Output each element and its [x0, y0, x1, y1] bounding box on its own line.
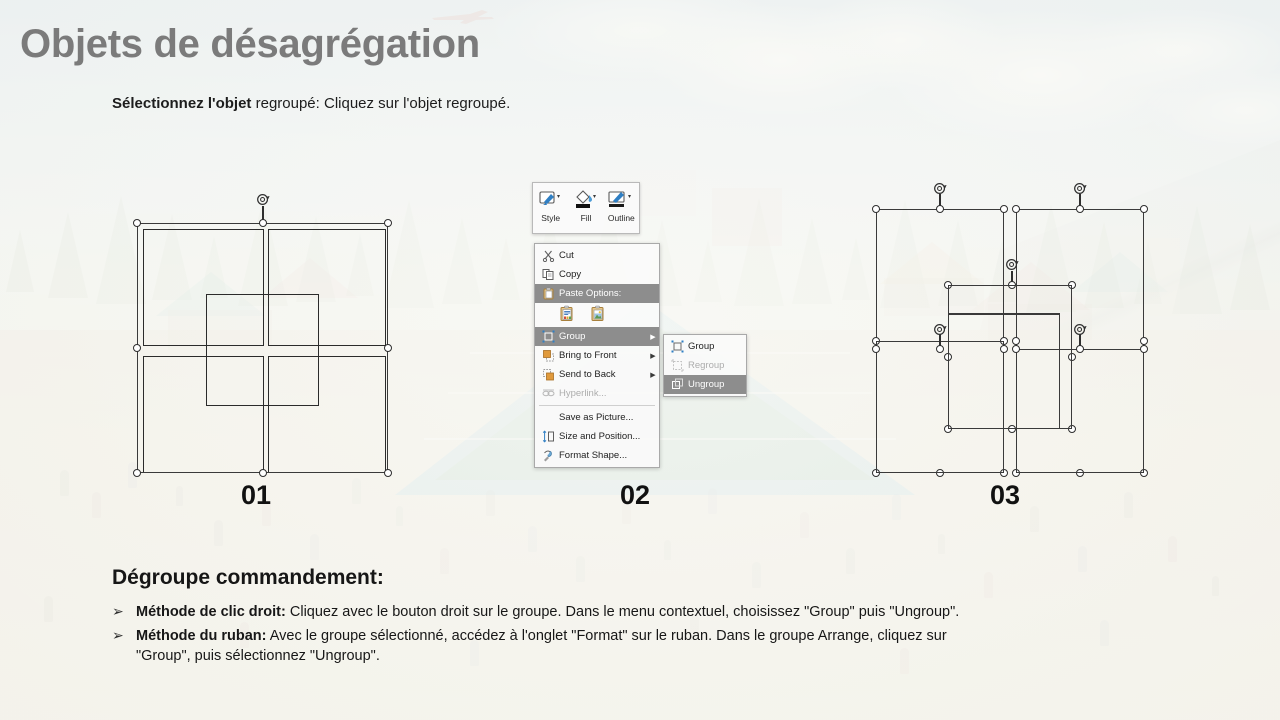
- context-menu[interactable]: Cut Copy Paste Option: [534, 243, 660, 468]
- step-number-02: 02: [620, 480, 650, 511]
- selection-box-03-e: [1016, 349, 1144, 473]
- size-position-icon: [537, 430, 559, 443]
- toolbar-label-fill: Fill: [581, 213, 592, 223]
- presentation-slide: Objets de désagrégation Sélectionnez l'o…: [0, 0, 1280, 720]
- mini-floating-toolbar[interactable]: Style Fill Outli: [532, 182, 640, 234]
- send-to-back-icon: [537, 368, 559, 381]
- menu-label-size-and-position: Size and Position...: [559, 431, 647, 442]
- menu-item-hyperlink: Hyperlink...: [535, 384, 659, 403]
- menu-label-send-to-back: Send to Back: [559, 369, 647, 380]
- bullet-text-2: Méthode du ruban: Avec le groupe sélecti…: [136, 626, 992, 667]
- selection-bounding-box-01: [137, 223, 388, 473]
- menu-label-copy: Copy: [559, 269, 647, 280]
- submenu-item-regroup: Regroup: [664, 356, 746, 375]
- rotation-handle-icon-03-d[interactable]: [933, 322, 948, 337]
- resize-handle-ne-01[interactable]: [384, 219, 392, 227]
- menu-item-copy[interactable]: Copy: [535, 265, 659, 284]
- rotation-handle-icon-03-c[interactable]: [1005, 257, 1020, 272]
- resize-handle-03-0[interactable]: [872, 205, 880, 213]
- format-shape-icon: [537, 449, 559, 462]
- outline-pen-icon: [607, 187, 635, 212]
- menu-item-send-to-back[interactable]: Send to Back ▶: [535, 365, 659, 384]
- menu-item-paste-options[interactable]: Paste Options:: [535, 284, 659, 303]
- list-item: ➢ Méthode du ruban: Avec le groupe sélec…: [112, 626, 992, 667]
- bullet-arrow-icon: ➢: [112, 626, 136, 646]
- scissors-icon: [537, 249, 559, 262]
- clipboard-icon: [537, 287, 559, 300]
- resize-handle-03-10[interactable]: [1140, 205, 1148, 213]
- resize-handle-e-01[interactable]: [384, 344, 392, 352]
- resize-handle-sw-01[interactable]: [133, 469, 141, 477]
- bullet-arrow-icon: ➢: [112, 602, 136, 622]
- resize-handle-n-01[interactable]: [259, 219, 267, 227]
- paste-options-icon-row[interactable]: [535, 303, 659, 327]
- subtitle-line: Sélectionnez l'objet regroupé: Cliquez s…: [112, 95, 510, 112]
- toolbar-label-style: Style: [541, 213, 560, 223]
- page-title: Objets de désagrégation: [20, 22, 480, 67]
- rotation-handle-icon-03-b[interactable]: [1073, 181, 1088, 196]
- group-submenu[interactable]: Group Regroup Ungroup: [663, 334, 747, 397]
- menu-label-save-as-picture: Save as Picture...: [559, 412, 647, 423]
- step-number-03: 03: [990, 480, 1020, 511]
- resize-handle-03-12[interactable]: [1140, 337, 1148, 345]
- menu-item-size-and-position[interactable]: Size and Position...: [535, 427, 659, 446]
- submenu-item-ungroup[interactable]: Ungroup: [664, 375, 746, 394]
- toolbar-label-outline: Outline: [608, 213, 635, 223]
- menu-label-paste-options: Paste Options:: [559, 288, 647, 299]
- resize-handle-03-9[interactable]: [1076, 205, 1084, 213]
- resize-handle-w-01[interactable]: [133, 344, 141, 352]
- shape-style-icon: [538, 187, 564, 212]
- resize-handle-03-27[interactable]: [1012, 345, 1020, 353]
- menu-label-format-shape: Format Shape...: [559, 450, 647, 461]
- fill-bucket-icon: [573, 187, 599, 212]
- menu-label-bring-to-front: Bring to Front: [559, 350, 647, 361]
- subtitle-rest-part: regroupé: Cliquez sur l'objet regroupé.: [251, 95, 510, 112]
- group-icon: [666, 340, 688, 353]
- subtitle-bold-part: Sélectionnez l'objet: [112, 95, 251, 112]
- bullet-list: ➢ Méthode de clic droit: Cliquez avec le…: [112, 602, 992, 670]
- menu-label-group: Group: [559, 331, 647, 342]
- menu-item-cut[interactable]: Cut: [535, 246, 659, 265]
- menu-item-format-shape[interactable]: Format Shape...: [535, 446, 659, 465]
- resize-handle-03-29[interactable]: [1140, 345, 1148, 353]
- menu-item-group[interactable]: Group ▶: [535, 327, 659, 346]
- section-heading: Dégroupe commandement:: [112, 566, 384, 590]
- bullet-body-1: Cliquez avec le bouton droit sur le grou…: [286, 604, 959, 620]
- submenu-label-group: Group: [688, 341, 746, 352]
- resize-handle-03-24[interactable]: [872, 345, 880, 353]
- submenu-label-regroup: Regroup: [688, 360, 746, 371]
- group-icon: [537, 330, 559, 343]
- rotation-handle-icon-03-a[interactable]: [933, 181, 948, 196]
- paste-picture-icon[interactable]: [590, 305, 607, 326]
- resize-handle-03-28[interactable]: [1076, 345, 1084, 353]
- paste-keep-source-formatting-icon[interactable]: [559, 305, 576, 326]
- resize-handle-03-2[interactable]: [1000, 205, 1008, 213]
- submenu-arrow-group: ▶: [647, 333, 659, 341]
- menu-label-hyperlink: Hyperlink...: [559, 388, 647, 399]
- selection-box-03-d: [876, 341, 1004, 473]
- rotation-handle-icon-03-e[interactable]: [1073, 322, 1088, 337]
- resize-handle-03-1[interactable]: [936, 205, 944, 213]
- toolbar-button-style[interactable]: Style: [533, 183, 568, 233]
- resize-handle-nw-01[interactable]: [133, 219, 141, 227]
- hyperlink-icon: [537, 387, 559, 400]
- submenu-label-ungroup: Ungroup: [688, 379, 746, 390]
- submenu-arrow-bring-to-front: ▶: [647, 352, 659, 360]
- bullet-text-1: Méthode de clic droit: Cliquez avec le b…: [136, 602, 992, 623]
- bullet-bold-2: Méthode du ruban:: [136, 628, 267, 644]
- resize-handle-se-01[interactable]: [384, 469, 392, 477]
- submenu-arrow-send-to-back: ▶: [647, 371, 659, 379]
- copy-icon: [537, 268, 559, 281]
- regroup-icon: [666, 359, 688, 372]
- ungroup-icon: [666, 378, 688, 391]
- menu-label-cut: Cut: [559, 250, 647, 261]
- bring-to-front-icon: [537, 349, 559, 362]
- toolbar-button-outline[interactable]: Outline: [604, 183, 639, 233]
- bullet-bold-1: Méthode de clic droit:: [136, 604, 286, 620]
- submenu-item-group[interactable]: Group: [664, 337, 746, 356]
- resize-handle-03-26[interactable]: [1000, 345, 1008, 353]
- resize-handle-03-8[interactable]: [1012, 205, 1020, 213]
- toolbar-button-fill[interactable]: Fill: [568, 183, 603, 233]
- resize-handle-03-25[interactable]: [936, 345, 944, 353]
- menu-item-save-as-picture[interactable]: Save as Picture...: [535, 408, 659, 427]
- resize-handle-s-01[interactable]: [259, 469, 267, 477]
- step-number-01: 01: [241, 480, 271, 511]
- menu-item-bring-to-front[interactable]: Bring to Front ▶: [535, 346, 659, 365]
- list-item: ➢ Méthode de clic droit: Cliquez avec le…: [112, 602, 992, 623]
- menu-separator: [539, 405, 655, 406]
- rotation-handle-icon-01[interactable]: [256, 192, 271, 207]
